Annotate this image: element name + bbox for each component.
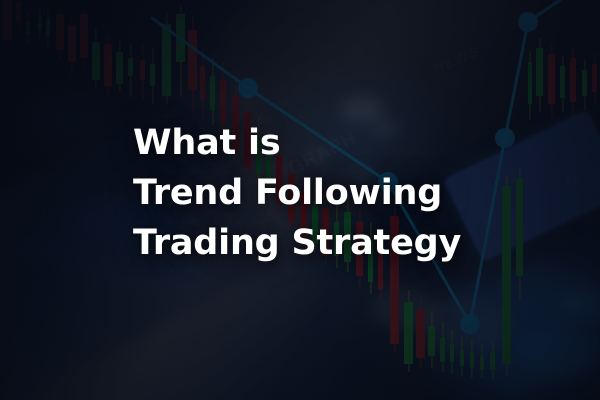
headline-line-1: What is [133, 118, 563, 168]
headline-line-3: Trading Strategy [133, 218, 563, 268]
hero-banner: GRAPHNEWSMMARKET What is Trend Following… [0, 0, 600, 400]
headline-line-2: Trend Following [133, 168, 563, 218]
page-title: What is Trend Following Trading Strategy [133, 118, 563, 268]
